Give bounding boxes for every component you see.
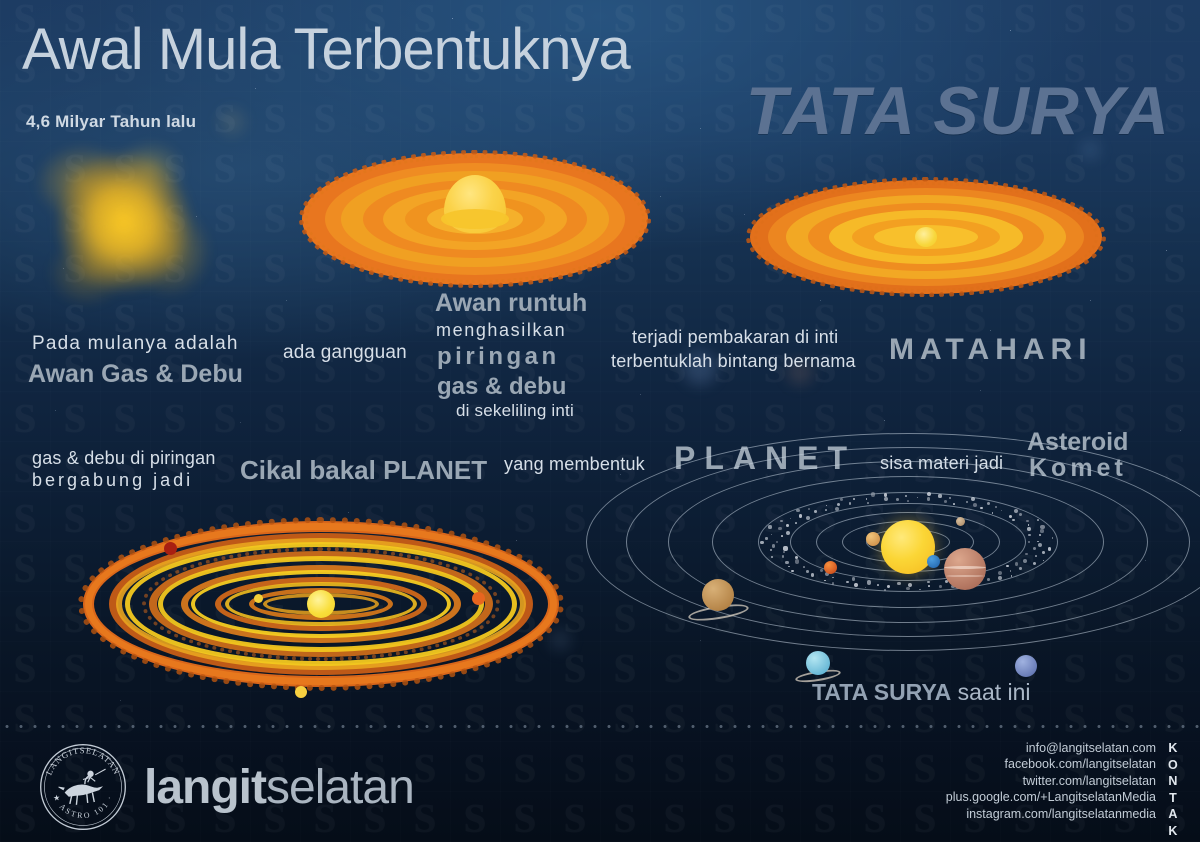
brand-light: selatan — [266, 761, 414, 814]
svg-text:LANGITSELATAN: LANGITSELATAN — [44, 745, 123, 776]
caption-ignition-line1: terjadi pembakaran di inti — [632, 327, 838, 348]
caption-sun: MATAHARI — [889, 333, 1093, 367]
protoplanetary-disk-visual — [78, 508, 563, 688]
contact-facebook[interactable]: facebook.com/langitselatan — [946, 756, 1156, 772]
gas-dust-cloud-glow — [30, 140, 220, 315]
svg-text:★ ASTRO 101 ·: ★ ASTRO 101 · — [51, 793, 115, 820]
footer-divider — [0, 725, 1200, 728]
caption-collapse-line1: Awan runtuh — [435, 289, 587, 318]
langitselatan-seal-logo[interactable]: LANGITSELATAN ★ ASTRO 101 · — [36, 740, 130, 834]
solar-system-label-light: saat ini — [958, 679, 1031, 705]
kontak-char: T — [1166, 790, 1182, 807]
caption-forming: yang membentuk — [504, 454, 645, 475]
contact-twitter[interactable]: twitter.com/langitselatan — [946, 773, 1156, 789]
solar-system-label: TATA SURYA saat ini — [812, 679, 1031, 706]
caption-accretion-line2: bergabung jadi — [32, 470, 193, 491]
caption-accretion-line1: gas & debu di piringan — [32, 448, 216, 469]
contact-email[interactable]: info@langitselatan.com — [946, 740, 1156, 756]
kontak-char: K — [1166, 823, 1182, 840]
kontak-char: K — [1166, 740, 1182, 757]
caption-collapse-line3: piringan — [437, 343, 560, 371]
caption-ignition-line2: terbentuklah bintang bernama — [611, 351, 856, 372]
infographic-poster: ssssssssssssssssssssssssssssssssssssssss… — [0, 0, 1200, 842]
star-disk-visual — [748, 172, 1103, 297]
topic-title: TATA SURYA — [746, 72, 1170, 150]
contact-list: info@langitselatan.com facebook.com/lang… — [946, 740, 1156, 822]
brand-bold: langit — [144, 761, 266, 814]
caption-collapse-line5: di sekeliling inti — [456, 401, 574, 421]
page-title: Awal Mula Terbentuknya — [22, 16, 630, 83]
solar-system-label-bold: TATA SURYA — [812, 679, 951, 705]
protostar-disk-visual — [300, 142, 650, 287]
caption-protoplanet: Cikal bakal PLANET — [240, 455, 487, 486]
caption-collapse-line4: gas & debu — [437, 373, 566, 401]
caption-cloud-line2: Awan Gas & Debu — [28, 360, 243, 389]
caption-collapse-line2: menghasilkan — [436, 320, 566, 341]
kontak-char: A — [1166, 806, 1182, 823]
caption-cloud-line1: Pada mulanya adalah — [32, 333, 239, 355]
page-subtitle: 4,6 Milyar Tahun lalu — [26, 112, 196, 132]
brand-wordmark[interactable]: langitselatan — [144, 760, 414, 815]
kontak-vertical-label: KONTAK — [1166, 740, 1182, 839]
contact-instagram[interactable]: instagram.com/langitselatanmedia — [946, 806, 1156, 822]
contact-googleplus[interactable]: plus.google.com/+LangitselatanMedia — [946, 789, 1156, 805]
caption-disturbance: ada gangguan — [283, 342, 407, 364]
kontak-char: N — [1166, 773, 1182, 790]
kontak-char: O — [1166, 757, 1182, 774]
